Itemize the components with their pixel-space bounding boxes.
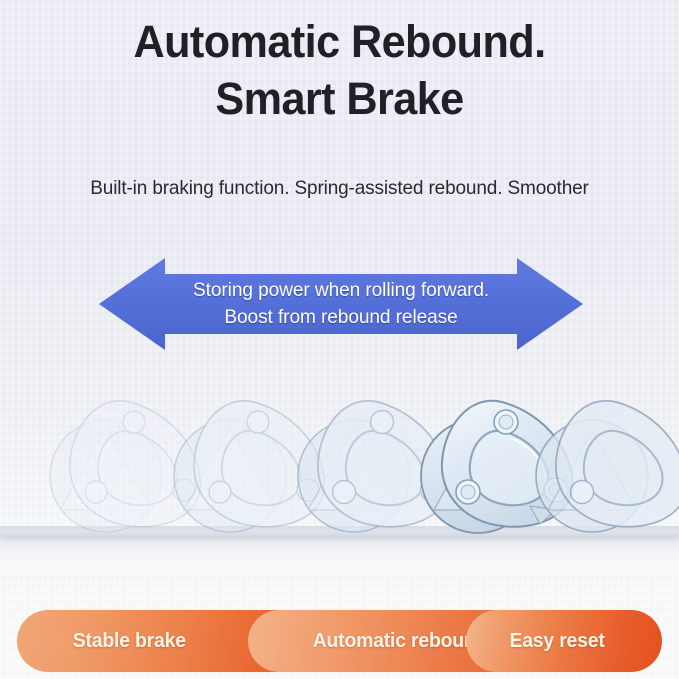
feature-pill-easy-reset[interactable]: Easy reset xyxy=(466,610,662,672)
promo-banner-page: Automatic Rebound. Smart Brake Built-in … xyxy=(0,0,679,679)
product-ghost-4 xyxy=(520,384,679,536)
page-title: Automatic Rebound. Smart Brake xyxy=(0,14,679,128)
product-image xyxy=(0,372,679,572)
double-arrow-banner: Storing power when rolling forward. Boos… xyxy=(97,252,585,356)
headline-line-2: Smart Brake xyxy=(14,70,666,128)
feature-pill-label: Stable brake xyxy=(73,630,186,653)
double-headed-arrow-icon xyxy=(97,252,585,356)
feature-pill-label: Easy reset xyxy=(509,630,604,653)
headline-line-1: Automatic Rebound. xyxy=(14,14,666,70)
subheadline: Built-in braking function. Spring-assist… xyxy=(8,175,670,201)
feature-pill-label: Automatic rebound xyxy=(313,630,488,653)
product-shadow-line xyxy=(0,535,679,542)
feature-pill-bar: Stable brake Automatic rebound Easy rese… xyxy=(0,610,679,679)
